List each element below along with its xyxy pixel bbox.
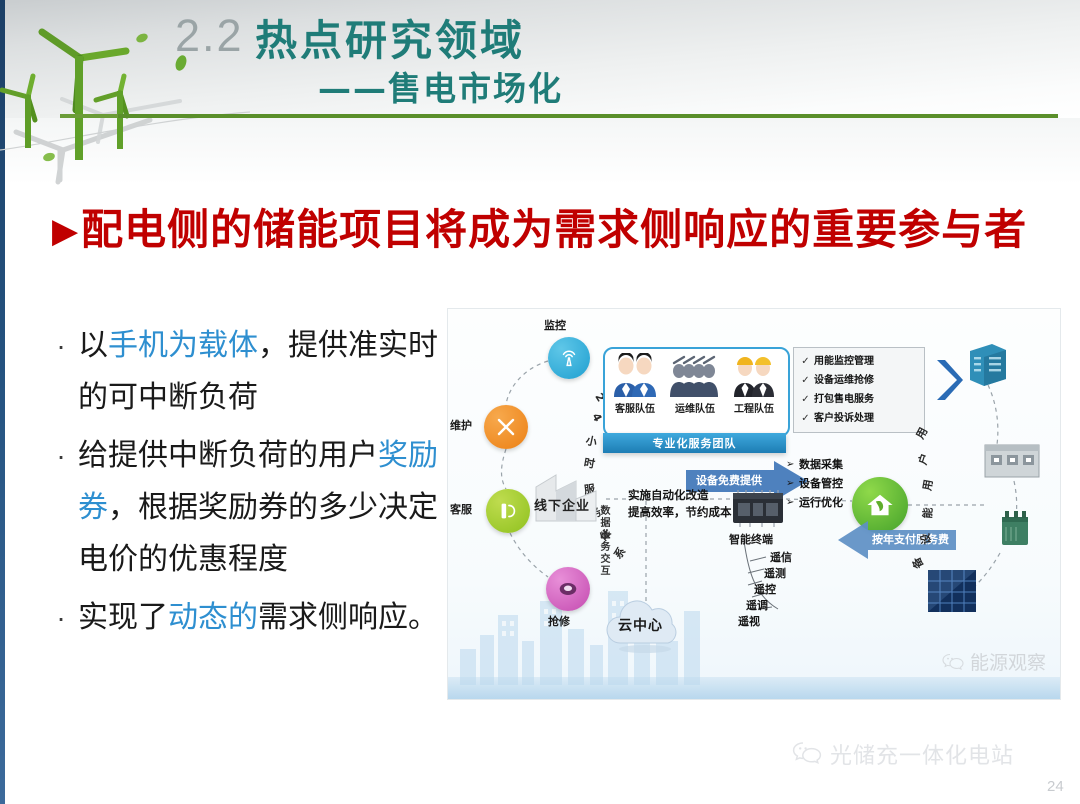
team-label: 运维队伍 bbox=[666, 400, 724, 415]
checklist-row: ✓客户投诉处理 bbox=[797, 409, 921, 428]
terminal-function-row: ➢数据采集 bbox=[786, 455, 843, 474]
check-icon: ✓ bbox=[797, 352, 814, 371]
arrow-marker-icon: ➢ bbox=[786, 493, 799, 512]
solar-panel-icon bbox=[926, 567, 978, 615]
list-item: · 以手机为载体，提供准实时的可中断负荷 bbox=[44, 320, 444, 424]
remote-function-label: 遥视 bbox=[738, 613, 760, 629]
remote-function-label: 遥调 bbox=[746, 597, 768, 613]
chevron-right-icon bbox=[933, 357, 963, 403]
check-icon: ✓ bbox=[797, 390, 814, 409]
slide: 2.2 热点研究领域 ——售电市场化 ▶配电侧的储能项目将成为需求侧响应的重要参… bbox=[0, 0, 1080, 804]
customer-service-team-icon bbox=[606, 353, 664, 399]
checklist-row: ✓打包售电服务 bbox=[797, 390, 921, 409]
team-customer-service: 客服队伍 bbox=[606, 353, 664, 415]
header-divider bbox=[118, 114, 1058, 118]
triangle-bullet-icon: ▶ bbox=[52, 211, 79, 251]
terminal-function-label: 运行优化 bbox=[799, 493, 843, 512]
annual-payment-arrow-label: 按年支付服务费 bbox=[872, 531, 949, 547]
implementation-line-2: 提高效率，节约成本 bbox=[628, 505, 732, 519]
service-checklist: ✓用能监控管理 ✓设备运维抢修 ✓打包售电服务 ✓客户投诉处理 bbox=[793, 347, 925, 433]
headline-text: 配电侧的储能项目将成为需求侧响应的重要参与者 bbox=[81, 205, 1027, 254]
node-label-repair: 抢修 bbox=[548, 613, 570, 629]
bullet-marker-icon: · bbox=[44, 592, 78, 644]
monitor-node-icon bbox=[548, 337, 590, 379]
terminal-function-label: 数据采集 bbox=[799, 455, 843, 474]
remote-function-label: 遥测 bbox=[764, 565, 786, 581]
bullet-text: 以手机为载体，提供准实时的可中断负荷 bbox=[78, 320, 444, 424]
maintenance-node-icon bbox=[484, 405, 528, 449]
checklist-label: 用能监控管理 bbox=[814, 352, 874, 371]
checklist-label: 设备运维抢修 bbox=[814, 371, 874, 390]
operations-team-icon bbox=[666, 353, 724, 399]
remote-function-label: 遥信 bbox=[770, 549, 792, 565]
smart-terminal-icon bbox=[730, 487, 786, 529]
node-label-service: 客服 bbox=[450, 501, 472, 517]
terminal-function-list: ➢数据采集 ➢设备管控 ➢运行优化 bbox=[786, 455, 843, 512]
bullet-seg: 给提供中断负荷的用户 bbox=[78, 438, 378, 473]
terminal-function-label: 设备管控 bbox=[799, 474, 843, 493]
node-label-monitor: 监控 bbox=[544, 317, 566, 333]
implementation-line-1: 实施自动化改造 bbox=[628, 488, 709, 502]
bullet-seg: 需求侧响应。 bbox=[258, 600, 438, 635]
checklist-row: ✓设备运维抢修 bbox=[797, 371, 921, 390]
engineering-team-icon bbox=[725, 353, 783, 399]
arc-char: 能 bbox=[919, 507, 936, 519]
bullet-list: · 以手机为载体，提供准实时的可中断负荷 · 给提供中断负荷的用户奖励券，根据奖… bbox=[44, 320, 444, 650]
energy-service-diagram: 监控 维护 客服 抢修 2 4 小 时 服 务 体 系 线下企业 bbox=[447, 308, 1061, 700]
checklist-row: ✓用能监控管理 bbox=[797, 352, 921, 371]
checklist-label: 客户投诉处理 bbox=[814, 409, 874, 428]
server-rack-icon bbox=[966, 341, 1010, 387]
team-operations: 运维队伍 bbox=[666, 353, 724, 415]
list-item: · 实现了动态的需求侧响应。 bbox=[44, 592, 444, 644]
bullet-marker-icon: · bbox=[44, 320, 78, 424]
free-equipment-arrow-label: 设备免费提供 bbox=[696, 472, 762, 488]
check-icon: ✓ bbox=[797, 371, 814, 390]
figure-watermark: 能源观察 bbox=[942, 648, 1046, 675]
divider-tail bbox=[60, 114, 120, 118]
bullet-seg-highlight: 手机为载体 bbox=[108, 328, 258, 363]
section-number: 2.2 bbox=[175, 10, 244, 62]
footer-watermark-text: 光储充一体化电站 bbox=[830, 738, 1014, 770]
emergency-repair-node-icon bbox=[546, 567, 590, 611]
bullet-seg-highlight: 动态的 bbox=[168, 600, 258, 635]
arrow-marker-icon: ➢ bbox=[786, 455, 799, 474]
figure-watermark-text: 能源观察 bbox=[970, 648, 1046, 675]
implementation-note: 实施自动化改造 提高效率，节约成本 bbox=[628, 487, 732, 521]
bullet-seg: ，根据奖励券的多少决定电价的优惠程度 bbox=[78, 490, 438, 577]
page-number: 24 bbox=[1047, 778, 1064, 795]
page-title: 热点研究领域 bbox=[255, 7, 525, 68]
checklist-label: 打包售电服务 bbox=[814, 390, 874, 409]
bullet-text: 实现了动态的需求侧响应。 bbox=[78, 592, 438, 644]
enterprise-label: 线下企业 bbox=[534, 495, 590, 514]
headline: ▶配电侧的储能项目将成为需求侧响应的重要参与者 bbox=[52, 196, 1027, 257]
arrow-marker-icon: ➢ bbox=[786, 474, 799, 493]
wechat-icon bbox=[792, 741, 822, 767]
team-engineering: 工程队伍 bbox=[725, 353, 783, 415]
team-label: 工程队伍 bbox=[725, 400, 783, 415]
customer-service-node-icon bbox=[486, 489, 530, 533]
terminal-label: 智能终端 bbox=[729, 531, 773, 547]
terminal-function-row: ➢运行优化 bbox=[786, 493, 843, 512]
switchgear-cabinet-icon bbox=[983, 441, 1041, 481]
bullet-seg: 以 bbox=[78, 328, 108, 363]
page-subtitle: ——售电市场化 bbox=[318, 62, 563, 110]
remote-function-label: 遥控 bbox=[754, 581, 776, 597]
wechat-icon bbox=[942, 653, 964, 671]
footer-watermark: 光储充一体化电站 bbox=[792, 738, 1014, 770]
bullet-text: 给提供中断负荷的用户奖励券，根据奖励券的多少决定电价的优惠程度 bbox=[78, 430, 444, 586]
check-icon: ✓ bbox=[797, 409, 814, 428]
data-exchange-label: 数据业务交互 bbox=[596, 505, 611, 577]
bullet-marker-icon: · bbox=[44, 430, 78, 586]
bullet-seg: 实现了 bbox=[78, 600, 168, 635]
cloud-center-label: 云中心 bbox=[618, 615, 663, 635]
terminal-function-row: ➢设备管控 bbox=[786, 474, 843, 493]
transformer-icon bbox=[996, 507, 1036, 551]
list-item: · 给提供中断负荷的用户奖励券，根据奖励券的多少决定电价的优惠程度 bbox=[44, 430, 444, 586]
node-label-maintain: 维护 bbox=[450, 417, 472, 433]
team-label: 客服队伍 bbox=[606, 400, 664, 415]
service-team-bar-label: 专业化服务团队 bbox=[603, 433, 786, 453]
